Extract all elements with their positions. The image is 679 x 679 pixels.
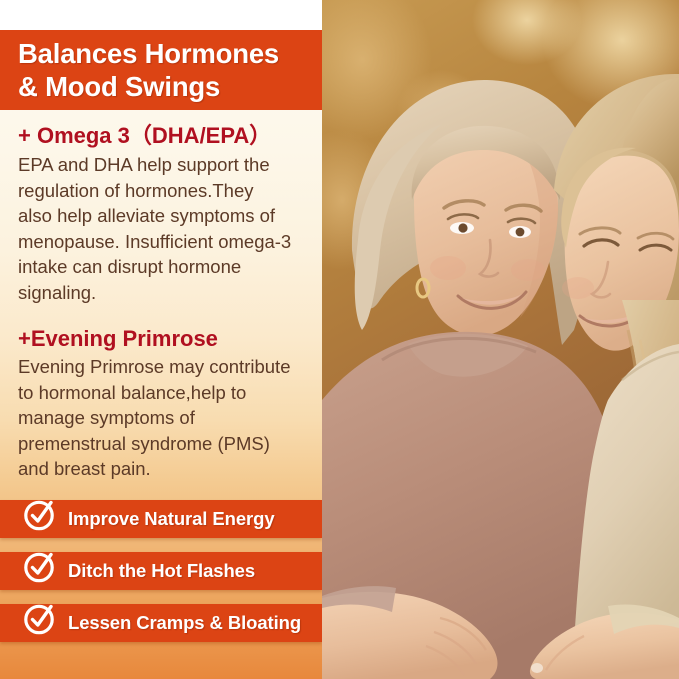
section-primrose-heading: +Evening Primrose [18,325,308,352]
section-omega3-heading-paren-text: DHA/EPA [152,123,249,148]
benefit-label: Improve Natural Energy [68,500,275,538]
paren-open: （ [130,124,152,149]
check-circle-icon [22,497,56,531]
benefit-label: Ditch the Hot Flashes [68,552,255,590]
check-circle-icon [22,549,56,583]
benefits-list: Improve Natural Energy Ditch the Hot Fla… [0,500,322,656]
benefit-bar: Improve Natural Energy [0,500,322,538]
photo-illustration [322,0,679,679]
section-primrose-body: Evening Primrose may contribute to hormo… [18,354,308,482]
section-spacer [18,305,308,325]
benefit-bar: Lessen Cramps & Bloating [0,604,322,642]
section-omega3-heading-prefix: + Omega 3 [18,123,130,148]
benefit-bar: Ditch the Hot Flashes [0,552,322,590]
section-omega3: + Omega 3（DHA/EPA） EPA and DHA help supp… [18,122,308,305]
section-omega3-heading: + Omega 3（DHA/EPA） [18,122,308,150]
section-primrose: +Evening Primrose Evening Primrose may c… [18,325,308,482]
benefit-label: Lessen Cramps & Bloating [68,604,301,642]
panel-content: + Omega 3（DHA/EPA） EPA and DHA help supp… [0,110,322,482]
section-omega3-body: EPA and DHA help support the regulation … [18,152,308,305]
paren-close: ） [249,124,271,149]
infographic-canvas: Balances Hormones & Mood Swings + Omega … [0,0,679,679]
info-panel: Balances Hormones & Mood Swings + Omega … [0,0,322,679]
lifestyle-photo [322,0,679,679]
check-circle-icon [22,601,56,635]
page-title: Balances Hormones & Mood Swings [18,37,322,103]
header-banner: Balances Hormones & Mood Swings [0,30,322,110]
